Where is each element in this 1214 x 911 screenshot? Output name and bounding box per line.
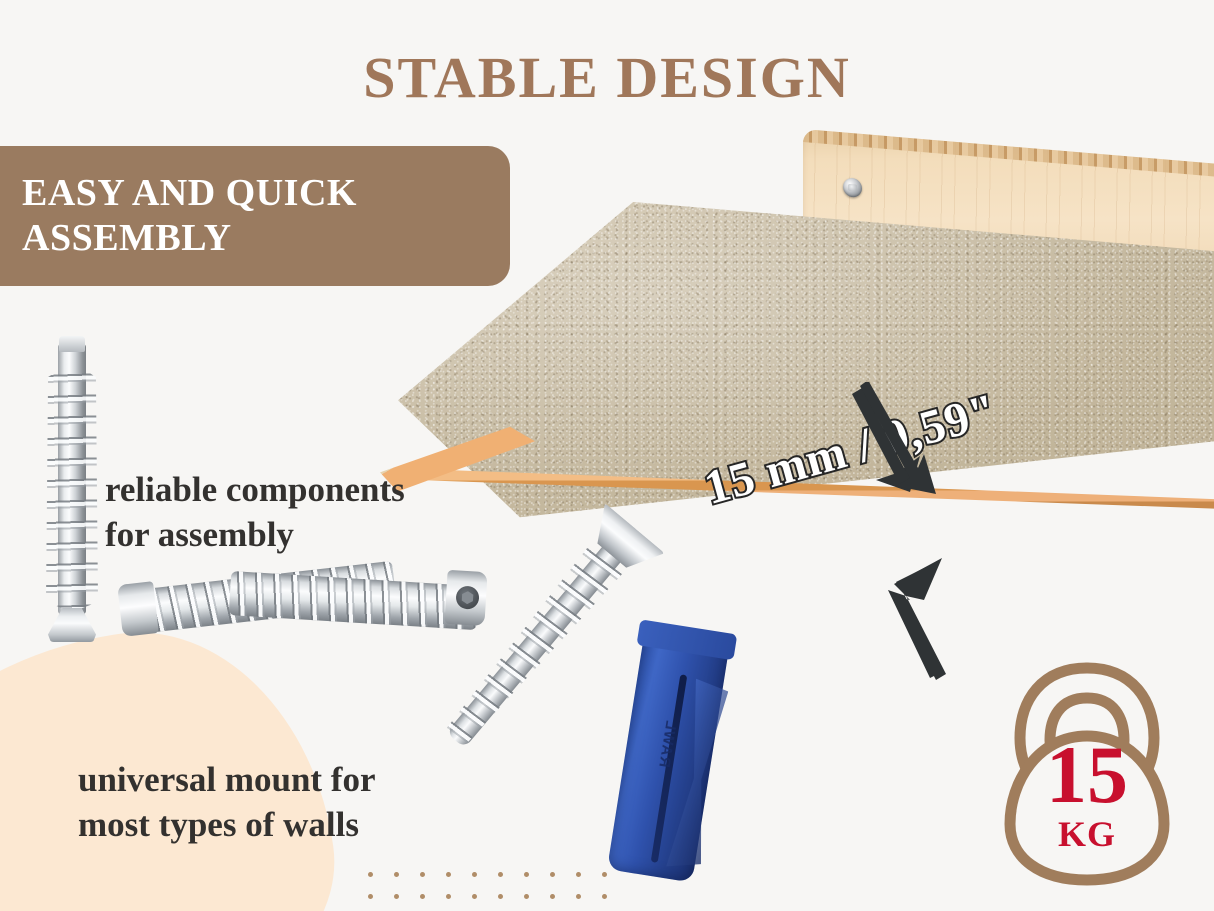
dot	[550, 894, 555, 899]
anchor-brand-label: RAWL	[655, 718, 679, 768]
confirmat-screw-vertical	[44, 336, 100, 666]
callout-universal-mount: universal mount for most types of walls	[78, 758, 376, 848]
dot	[576, 894, 581, 899]
screw-threads	[434, 537, 632, 759]
dot	[524, 894, 529, 899]
anchor-body: RAWL	[607, 622, 731, 882]
infographic-canvas: STABLE DESIGN EASY AND QUICK ASSEMBLY re…	[0, 0, 1214, 911]
dot	[394, 872, 399, 877]
easy-assembly-badge-label: EASY AND QUICK ASSEMBLY	[22, 171, 357, 261]
easy-assembly-badge: EASY AND QUICK ASSEMBLY	[0, 146, 510, 286]
blue-wall-anchor: RAWL	[608, 618, 738, 888]
screw-threads	[46, 362, 98, 612]
screw-round-head	[117, 581, 159, 637]
dot	[576, 872, 581, 877]
weight-value: 15	[994, 734, 1180, 816]
dot	[420, 894, 425, 899]
dot	[498, 894, 503, 899]
arrow-down-icon	[848, 382, 968, 502]
callout-reliable-components: reliable components for assembly	[105, 468, 405, 558]
dot	[472, 894, 477, 899]
weight-unit: KG	[994, 816, 1180, 852]
decorative-dot-grid	[368, 872, 628, 911]
screw-tip	[59, 336, 85, 352]
screw-countersunk-head	[48, 608, 96, 642]
dot	[446, 894, 451, 899]
dot	[368, 894, 373, 899]
dot	[498, 872, 503, 877]
dot	[472, 872, 477, 877]
dot	[524, 872, 529, 877]
dot	[550, 872, 555, 877]
page-title: STABLE DESIGN	[0, 44, 1214, 111]
dot	[368, 872, 373, 877]
weight-capacity-badge: 15 KG	[994, 656, 1180, 888]
dot	[394, 894, 399, 899]
dot	[446, 872, 451, 877]
dot	[420, 872, 425, 877]
dot	[602, 894, 607, 899]
dot	[602, 872, 607, 877]
